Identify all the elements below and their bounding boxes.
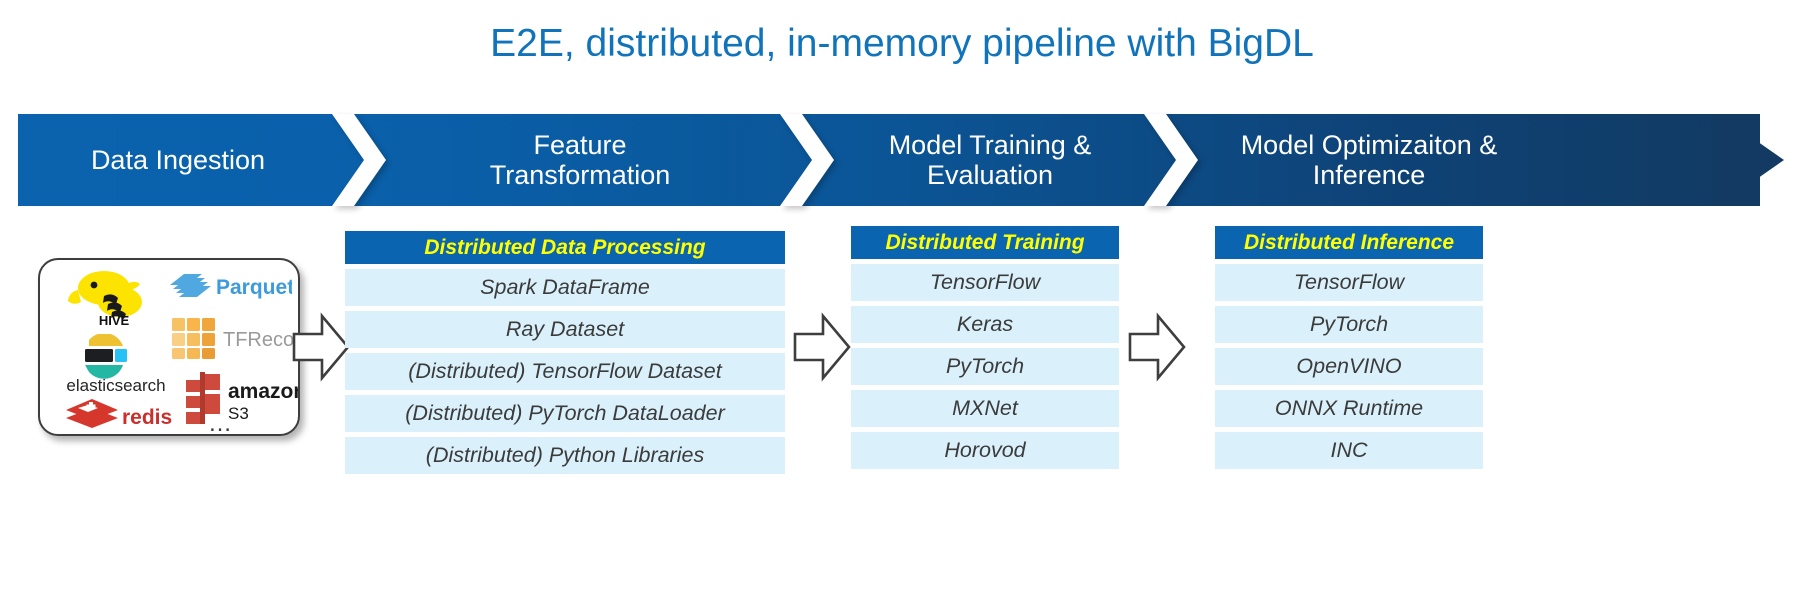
table-row[interactable]: (Distributed) TensorFlow Dataset [345,353,785,390]
hive-logo-label: HIVE [99,313,130,328]
table-row[interactable]: PyTorch [851,348,1119,385]
flow-arrow-transform-to-training [793,312,851,387]
data-source-grid: HIVE Parquet [40,260,298,434]
pipeline-stage-model-optimization[interactable]: Model Optimizaiton & Inference [1204,114,1534,206]
parquet-logo: Parquet [168,270,292,300]
table-row[interactable]: ONNX Runtime [1215,390,1483,427]
table-row[interactable]: OpenVINO [1215,348,1483,385]
parquet-logo-label: Parquet [216,276,292,299]
table-header: Distributed Training [851,226,1119,259]
elasticsearch-logo: elasticsearch [62,334,170,396]
page-title: E2E, distributed, in-memory pipeline wit… [0,22,1804,66]
table-distributed-inference: Distributed Inference TensorFlow PyTorch… [1215,226,1483,469]
table-distributed-training: Distributed Training TensorFlow Keras Py… [851,226,1119,469]
table-row[interactable]: (Distributed) Python Libraries [345,437,785,474]
table-row[interactable]: TensorFlow [851,264,1119,301]
table-row[interactable]: INC [1215,432,1483,469]
pipeline-stage-label: Model Training & Evaluation [889,130,1092,190]
table-distributed-data-processing: Distributed Data Processing Spark DataFr… [345,231,785,474]
table-row[interactable]: PyTorch [1215,306,1483,343]
amazon-s3-logo: amazon S3 [178,372,298,432]
redis-logo-label: redis [122,406,172,429]
table-row[interactable]: Horovod [851,432,1119,469]
table-row[interactable]: Spark DataFrame [345,269,785,306]
table-row[interactable]: TensorFlow [1215,264,1483,301]
pipeline-banner: Data Ingestion Feature Transformation Mo… [18,114,1786,206]
flow-arrow-training-to-inference [1128,312,1186,387]
tfrecord-logo: TFRecord [166,312,298,364]
pipeline-stage-data-ingestion[interactable]: Data Ingestion [18,114,338,206]
table-row[interactable]: MXNet [851,390,1119,427]
pipeline-stage-label: Model Optimizaiton & Inference [1241,130,1498,190]
more-sources-ellipsis: … [208,410,234,436]
amazon-logo-label: amazon [228,380,298,403]
table-row[interactable]: Ray Dataset [345,311,785,348]
pipeline-stage-model-training[interactable]: Model Training & Evaluation [840,114,1140,206]
slide-canvas: E2E, distributed, in-memory pipeline wit… [0,0,1804,601]
elasticsearch-logo-label: elasticsearch [66,376,165,395]
banner-end-arrow [1718,114,1784,206]
flow-arrow-ingest-to-transform [292,312,350,387]
pipeline-stage-label: Data Ingestion [91,145,265,175]
table-header: Distributed Data Processing [345,231,785,264]
redis-logo: redis [62,394,180,434]
table-row[interactable]: Keras [851,306,1119,343]
chevron-separator-3 [1140,106,1202,214]
pipeline-stage-label: Feature Transformation [490,130,671,190]
tfrecord-logo-label: TFRecord [223,329,298,351]
table-row[interactable]: (Distributed) PyTorch DataLoader [345,395,785,432]
table-header: Distributed Inference [1215,226,1483,259]
hive-logo: HIVE [64,266,160,328]
data-source-card[interactable]: HIVE Parquet [38,258,300,436]
chevron-separator-2 [776,106,838,214]
pipeline-stage-feature-transformation[interactable]: Feature Transformation [394,114,766,206]
